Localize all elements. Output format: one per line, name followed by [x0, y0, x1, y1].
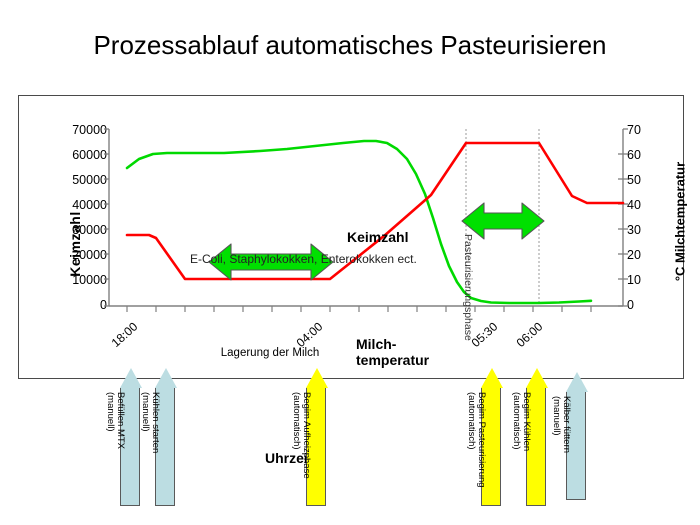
annotation-keimzahl-subtitle: E-Coli, Staphylokokken, Enterokokken ect…	[190, 252, 417, 266]
page-title: Prozessablauf automatisches Pasteurisier…	[0, 30, 700, 61]
phase-label-lagerung: Lagerung der Milch	[215, 347, 325, 359]
callout-label-line1: Kühlen starten	[150, 392, 160, 453]
annotation-keimzahl: Keimzahl	[347, 229, 408, 245]
callout-begim-pasteurisierung[interactable]: Begim Pasteurisierung (automatisch)	[481, 368, 503, 506]
callout-kaelber-fuettern[interactable]: Kälber füttern (manuell)	[566, 372, 588, 500]
annotation-milchtemperatur: Milch- temperatur	[356, 336, 429, 368]
callout-label-line1: Begim Kühlen	[521, 392, 531, 451]
callout-label-line2: (automatisch)	[511, 392, 521, 451]
callout-label: Begim Pasteurisierung (automatisch)	[466, 392, 486, 488]
callout-label-line2: (manuell)	[551, 396, 561, 453]
phase-arrow-pasteurisierung	[462, 203, 544, 239]
callout-body: Begim Kühlen (automatisch)	[526, 388, 546, 506]
callout-head-icon	[155, 368, 177, 388]
annotation-milchtemperatur-line2: temperatur	[356, 352, 429, 368]
callout-head-icon	[481, 368, 503, 388]
callout-label: Kälber füttern (manuell)	[551, 396, 571, 453]
callout-label: Kühlen starten (manuell)	[140, 392, 160, 453]
callout-label-line2: (automatisch)	[291, 392, 301, 479]
callout-label: Begim Aufheizphase (automatisch)	[291, 392, 311, 479]
annotation-milchtemperatur-line1: Milch-	[356, 336, 429, 352]
callout-head-icon	[306, 368, 328, 388]
callout-head-icon	[526, 368, 548, 388]
callout-label-line1: Begim Pasteurisierung	[476, 392, 486, 488]
callout-begim-aufheizphase[interactable]: Begim Aufheizphase (automatisch)	[306, 368, 328, 506]
chart-frame: 70000 60000 50000 40000 30000 20000 1000…	[18, 95, 684, 379]
callout-head-icon	[120, 368, 142, 388]
y-left-ticks	[104, 129, 109, 306]
callout-begim-kuehlen[interactable]: Begim Kühlen (automatisch)	[526, 368, 548, 506]
callout-befuellen-mtx[interactable]: Befüllen MTX (manuell)	[120, 368, 142, 506]
callout-body: Begim Pasteurisierung (automatisch)	[481, 388, 501, 506]
callout-body: Kälber füttern (manuell)	[566, 392, 586, 500]
callout-label-line1: Kälber füttern	[561, 396, 571, 453]
callout-body: Kühlen starten (manuell)	[155, 388, 175, 506]
callout-label-line1: Befüllen MTX	[115, 392, 125, 449]
callout-label-line2: (manuell)	[140, 392, 150, 453]
callout-label: Befüllen MTX (manuell)	[105, 392, 125, 449]
callout-head-icon	[566, 372, 588, 392]
callout-label-line2: (manuell)	[105, 392, 115, 449]
callout-label-line2: (automatisch)	[466, 392, 476, 488]
callout-body: Begim Aufheizphase (automatisch)	[306, 388, 326, 506]
callout-body: Befüllen MTX (manuell)	[120, 388, 140, 506]
x-ticks	[127, 306, 591, 312]
callout-label: Begim Kühlen (automatisch)	[511, 392, 531, 451]
callout-kuehlen-starten[interactable]: Kühlen starten (manuell)	[155, 368, 177, 506]
callout-label-line1: Begim Aufheizphase	[301, 392, 311, 479]
